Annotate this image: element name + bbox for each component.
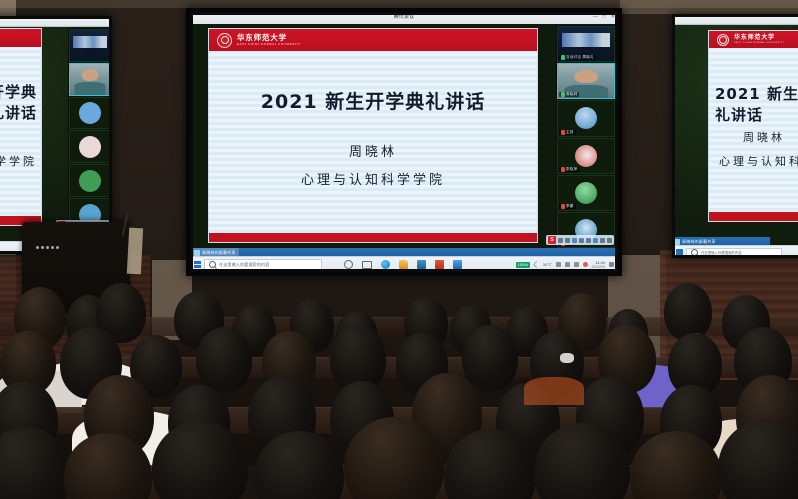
audience-head (196, 327, 252, 393)
face-mask (560, 353, 574, 363)
audience-head (664, 283, 712, 341)
audience-head (462, 325, 518, 391)
audience-seating (0, 269, 798, 499)
projection-screen-center: 腾讯会议 — □ ✕ 华东师范大学 EAST CHINA NORMAL UNIV… (186, 8, 622, 276)
center-screen-bezel (190, 12, 618, 272)
audience-shoulders (524, 377, 584, 405)
lectern-control-buttons[interactable] (36, 246, 59, 249)
audience-head (0, 427, 72, 499)
auditorium-scene: 2021 新生开学典礼讲话 心理与认知科学学院 S 100% 36℃ 11: (0, 0, 798, 499)
right-screen-bezel (672, 14, 798, 258)
left-screen-bezel (0, 16, 112, 254)
projection-screen-left: 2021 新生开学典礼讲话 心理与认知科学学院 S 100% 36℃ 11: (0, 16, 112, 254)
projection-screen-right: 华东师范大学 EAST CHINA NORMAL UNIVERSITY 2021… (672, 14, 798, 258)
wall-ceiling-strip (0, 0, 798, 8)
lectern-side-panel (127, 228, 143, 275)
